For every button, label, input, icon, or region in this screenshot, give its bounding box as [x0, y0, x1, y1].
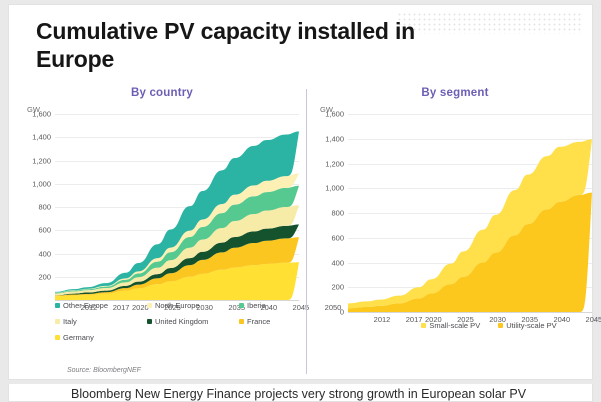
- legend-item-small-scale-pv[interactable]: Small-scale PV: [421, 321, 480, 330]
- legend-swatch-icon: [239, 319, 244, 324]
- legend-label: Other Europe: [63, 301, 108, 310]
- y-axis-unit-left: GW: [27, 105, 303, 114]
- y-tick-label: 1,000: [325, 184, 344, 193]
- legend-item-other-europe[interactable]: Other Europe: [55, 301, 108, 310]
- legend-label: France: [247, 317, 270, 326]
- legend-row: ItalyUnited KingdomFrance: [55, 317, 337, 333]
- plot-canvas-by-segment: [348, 114, 592, 312]
- source-note: Source: BloombergNEF: [67, 367, 141, 374]
- legend-label: Iberia: [247, 301, 266, 310]
- legend-by-segment: Small-scale PVUtility-scale PV: [348, 321, 601, 330]
- y-axis-labels-by-country: 2004006008001,0001,2001,4001,600: [21, 114, 55, 300]
- y-tick-label: 600: [38, 226, 51, 235]
- legend-swatch-icon: [55, 319, 60, 324]
- area-chart-by-segment: [348, 114, 592, 312]
- y-tick-label: 1,600: [32, 110, 51, 119]
- legend-swatch-icon: [147, 303, 152, 308]
- area-chart-by-country: [55, 114, 299, 300]
- caption-bar: Bloomberg New Energy Finance projects ve…: [8, 384, 593, 402]
- y-axis-unit-right: GW: [320, 105, 596, 114]
- legend-label: North Europe: [155, 301, 200, 310]
- plot-area-by-country: 2004006008001,0001,2001,4001,600: [21, 114, 303, 300]
- legend-item-utility-scale-pv[interactable]: Utility-scale PV: [498, 321, 556, 330]
- y-tick-label: 600: [331, 233, 344, 242]
- legend-swatch-icon: [55, 335, 60, 340]
- legend-item-iberia[interactable]: Iberia: [239, 301, 266, 310]
- legend-item-north-europe[interactable]: North Europe: [147, 301, 200, 310]
- legend-row: Other EuropeNorth EuropeIberia: [55, 301, 337, 317]
- y-tick-label: 1,600: [325, 110, 344, 119]
- legend-label: Italy: [63, 317, 77, 326]
- legend-by-country: Other EuropeNorth EuropeIberiaItalyUnite…: [55, 301, 337, 349]
- legend-label: Small-scale PV: [429, 321, 480, 330]
- chart-panel-by-segment: By segment GW 02004006008001,0001,2001,4…: [314, 87, 596, 326]
- legend-row: Small-scale PVUtility-scale PV: [348, 321, 601, 330]
- y-tick-label: 400: [38, 249, 51, 258]
- y-tick-label: 400: [331, 258, 344, 267]
- page-title: Cumulative PV capacity installed in Euro…: [36, 17, 436, 73]
- y-tick-label: 1,200: [325, 159, 344, 168]
- chart-title-by-segment: By segment: [314, 87, 596, 99]
- slide-page: Cumulative PV capacity installed in Euro…: [0, 0, 601, 402]
- slide-card: Cumulative PV capacity installed in Euro…: [8, 4, 593, 380]
- y-tick-label: 1,400: [325, 134, 344, 143]
- legend-swatch-icon: [498, 323, 503, 328]
- chart-title-by-country: By country: [21, 87, 303, 99]
- legend-item-italy[interactable]: Italy: [55, 317, 77, 326]
- legend-item-germany[interactable]: Germany: [55, 333, 94, 342]
- y-tick-label: 800: [38, 203, 51, 212]
- caption-text: Bloomberg New Energy Finance projects ve…: [71, 387, 526, 401]
- chart-panel-by-country: By country GW 2004006008001,0001,2001,40…: [21, 87, 303, 314]
- y-tick-label: 0: [340, 308, 344, 317]
- legend-swatch-icon: [421, 323, 426, 328]
- plot-area-by-segment: 02004006008001,0001,2001,4001,600: [314, 114, 596, 312]
- y-tick-label: 1,200: [32, 156, 51, 165]
- y-tick-label: 200: [38, 272, 51, 281]
- plot-canvas-by-country: [55, 114, 299, 300]
- y-axis-labels-by-segment: 02004006008001,0001,2001,4001,600: [314, 114, 348, 312]
- legend-row: Germany: [55, 333, 337, 349]
- legend-label: Germany: [63, 333, 94, 342]
- y-tick-label: 200: [331, 283, 344, 292]
- legend-item-france[interactable]: France: [239, 317, 270, 326]
- legend-item-united-kingdom[interactable]: United Kingdom: [147, 317, 208, 326]
- legend-swatch-icon: [147, 319, 152, 324]
- legend-label: United Kingdom: [155, 317, 208, 326]
- y-tick-label: 1,400: [32, 133, 51, 142]
- legend-swatch-icon: [239, 303, 244, 308]
- y-tick-label: 800: [331, 209, 344, 218]
- y-tick-label: 1,000: [32, 179, 51, 188]
- legend-label: Utility-scale PV: [506, 321, 556, 330]
- legend-swatch-icon: [55, 303, 60, 308]
